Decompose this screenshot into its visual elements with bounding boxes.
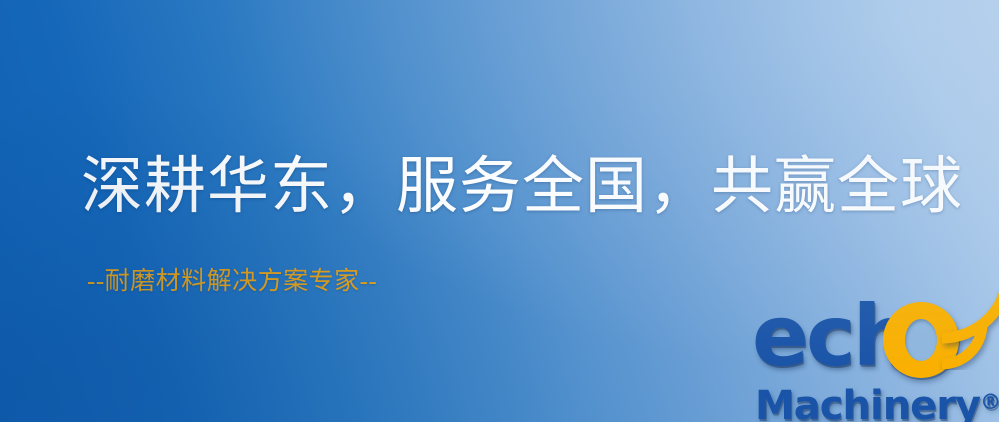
registered-trademark-icon: ® — [980, 390, 999, 414]
logo-tagline-text: Machinery — [755, 383, 980, 422]
logo-tagline: Machinery® — [755, 382, 999, 422]
logo-o-counter — [905, 319, 937, 361]
banner-headline: 深耕华东，服务全国，共赢全球 — [81, 152, 963, 222]
promo-banner: 深耕华东，服务全国，共赢全球 --耐磨材料解决方案专家-- ech Machin… — [0, 0, 999, 422]
banner-subtitle: --耐磨材料解决方案专家-- — [87, 267, 377, 297]
signal-waves-icon — [938, 290, 999, 370]
company-logo: ech Machinery® — [752, 296, 999, 422]
